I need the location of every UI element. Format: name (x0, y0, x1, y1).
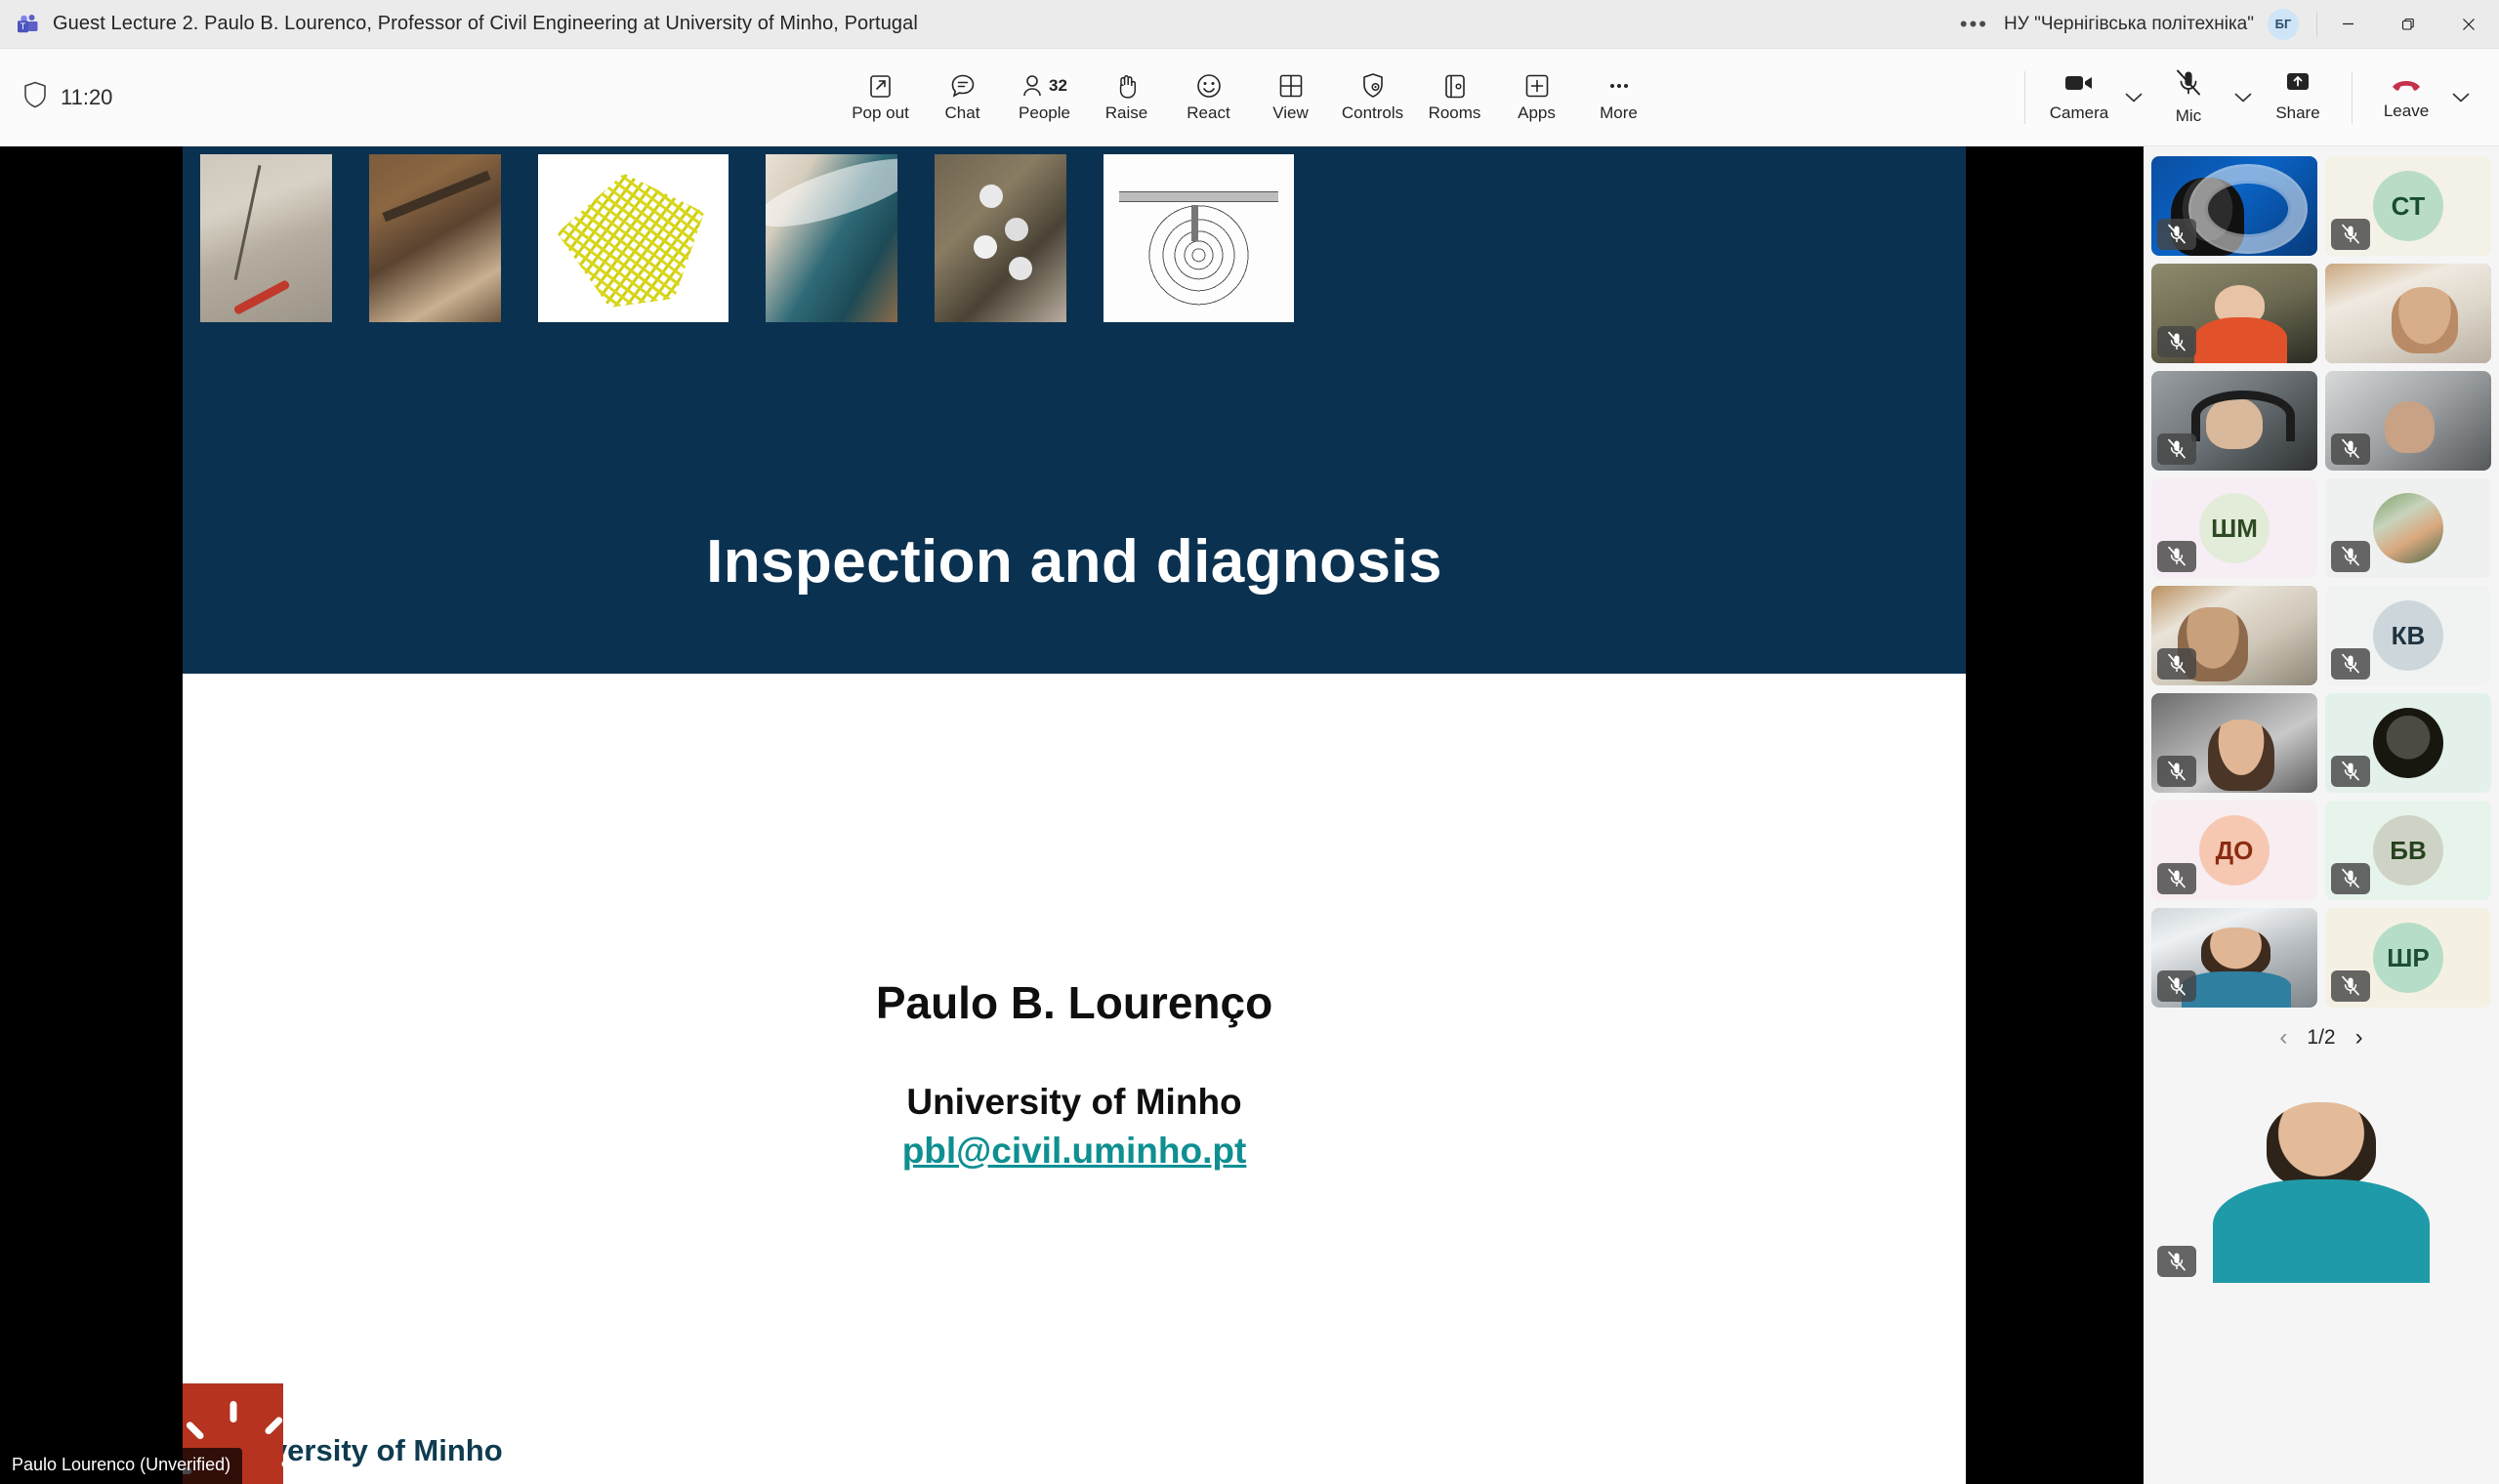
mic-muted-icon (2331, 756, 2370, 787)
slide-email-link[interactable]: pbl@civil.uminho.pt (183, 1131, 1966, 1172)
react-button[interactable]: React (1168, 60, 1250, 136)
participant-initials-avatar: ШР (2373, 923, 2443, 993)
leave-label: Leave (2384, 102, 2429, 121)
close-button[interactable] (2438, 0, 2499, 48)
mic-muted-icon (2331, 219, 2370, 250)
leave-button[interactable]: Leave (2368, 60, 2444, 136)
controls-shield-gear-icon (1360, 71, 1386, 101)
slide-presenter-name: Paulo B. Lourenço (183, 976, 1966, 1029)
mic-muted-icon (2331, 970, 2370, 1002)
toolbar-divider-left (2024, 71, 2025, 124)
people-count: 32 (1049, 76, 1067, 96)
camera-button[interactable]: Camera (2041, 60, 2117, 136)
account-avatar[interactable]: БГ (2268, 9, 2299, 40)
participant-initials-avatar: КВ (2373, 600, 2443, 671)
participant-tile[interactable] (2151, 371, 2317, 471)
toolbar-right-group: Camera Mic (2009, 49, 2499, 145)
view-label: View (1272, 103, 1309, 123)
hangup-icon (2390, 73, 2423, 98)
participant-tile[interactable]: ШМ (2151, 478, 2317, 578)
participant-tile[interactable] (2151, 156, 2317, 256)
thumbnail-anchor-bolts-photo (935, 154, 1066, 322)
participant-initials-avatar: ДО (2199, 815, 2270, 886)
people-icon: 32 (1021, 71, 1067, 101)
mic-muted-icon (2157, 863, 2196, 894)
apps-button[interactable]: Apps (1496, 60, 1578, 136)
mic-muted-icon (2331, 433, 2370, 465)
apps-plus-icon (1524, 71, 1550, 101)
rooms-label: Rooms (1429, 103, 1481, 123)
teams-icon: T (16, 13, 39, 36)
chat-button[interactable]: Chat (922, 60, 1004, 136)
svg-text:T: T (21, 21, 26, 31)
mic-muted-icon (2331, 648, 2370, 680)
title-bar-right: ••• НУ "Чернігівська політехніка" БГ (1944, 0, 2499, 48)
share-button[interactable]: Share (2260, 60, 2336, 136)
participant-tile[interactable] (2151, 264, 2317, 363)
raise-hand-label: Raise (1105, 103, 1147, 123)
thumbnail-timber-damage-photo (369, 154, 501, 322)
share-screen-icon (2283, 71, 2312, 100)
chat-label: Chat (945, 103, 980, 123)
participant-tile[interactable]: CT (2325, 156, 2491, 256)
organization-label: НУ "Чернігівська політехніка" (2004, 14, 2268, 35)
shared-content-stage[interactable]: Inspection and diagnosis Paulo B. Louren… (0, 146, 2144, 1484)
meeting-toolbar: 11:20 Pop out Chat (0, 49, 2499, 146)
mic-muted-icon (2157, 970, 2196, 1002)
camera-icon (2063, 71, 2095, 100)
slide-header-band: Inspection and diagnosis (183, 146, 1966, 674)
thumbnail-hem140-beam-drawing (1104, 154, 1294, 322)
mic-muted-icon (2157, 648, 2196, 680)
participant-video-feed (2325, 264, 2491, 363)
react-smiley-icon (1195, 71, 1223, 101)
participant-tile[interactable] (2325, 371, 2491, 471)
mic-muted-icon (2157, 541, 2196, 572)
thumbnail-crack-monitoring-photo (200, 154, 332, 322)
mic-muted-icon (2157, 1246, 2196, 1277)
react-label: React (1187, 103, 1229, 123)
pop-out-label: Pop out (852, 103, 909, 123)
presentation-slide: Inspection and diagnosis Paulo B. Louren… (183, 146, 1966, 1484)
raise-hand-button[interactable]: Raise (1086, 60, 1168, 136)
people-button[interactable]: 32 People (1004, 60, 1086, 136)
participant-tile[interactable] (2325, 478, 2491, 578)
shield-icon (23, 81, 47, 113)
participant-tile[interactable] (2151, 586, 2317, 685)
slide-affiliation: University of Minho (183, 1082, 1966, 1123)
participant-tile[interactable]: ШР (2325, 908, 2491, 1008)
roster-pager: ‹ 1/2 › (2151, 1011, 2491, 1064)
presenter-name-badge: Paulo Lourenco (Unverified) (0, 1448, 242, 1484)
mic-button[interactable]: Mic (2150, 60, 2227, 136)
share-label: Share (2275, 103, 2319, 123)
rooms-button[interactable]: Rooms (1414, 60, 1496, 136)
participant-tile[interactable] (2325, 264, 2491, 363)
camera-chevron-down-icon[interactable] (2117, 68, 2150, 127)
participant-tile[interactable] (2325, 693, 2491, 793)
roster-prev-page-button[interactable]: ‹ (2279, 1026, 2287, 1050)
title-bar-left: T Guest Lecture 2. Paulo B. Lourenco, Pr… (0, 13, 918, 36)
leave-chevron-down-icon[interactable] (2444, 68, 2478, 127)
participant-tile[interactable]: ДО (2151, 801, 2317, 900)
chat-icon (949, 71, 977, 101)
toolbar-divider-right (2352, 71, 2353, 124)
meeting-clock: 11:20 (61, 85, 112, 110)
minimize-button[interactable] (2317, 0, 2378, 48)
more-ellipsis-icon (1606, 71, 1632, 101)
mic-chevron-down-icon[interactable] (2227, 68, 2260, 127)
raise-hand-icon (1114, 71, 1140, 101)
participant-roster-panel: CT ШМ КВ ДО БВ ШР (2144, 146, 2499, 1484)
pop-out-icon (867, 71, 894, 101)
participant-tile[interactable]: КВ (2325, 586, 2491, 685)
participant-tile[interactable] (2151, 693, 2317, 793)
breakout-rooms-icon (1443, 71, 1467, 101)
apps-label: Apps (1518, 103, 1556, 123)
slide-title: Inspection and diagnosis (183, 527, 1966, 597)
thumbnail-arch-instrumentation-photo (766, 154, 897, 322)
restore-button[interactable] (2378, 0, 2438, 48)
roster-page-indicator: 1/2 (2307, 1026, 2335, 1050)
toolbar-left-group: 11:20 (0, 81, 410, 113)
spotlight-participant-tile[interactable] (2151, 1068, 2491, 1283)
title-bar: T Guest Lecture 2. Paulo B. Lourenco, Pr… (0, 0, 2499, 49)
mic-label: Mic (2176, 106, 2201, 126)
more-label: More (1600, 103, 1638, 123)
participant-initials-avatar: CT (2373, 171, 2443, 241)
participant-tile[interactable] (2151, 908, 2317, 1008)
camera-label: Camera (2050, 103, 2108, 123)
mic-muted-icon (2157, 219, 2196, 250)
mic-muted-icon (2157, 326, 2196, 357)
participant-grid: CT ШМ КВ ДО БВ ШР (2151, 156, 2491, 1008)
mic-muted-icon (2331, 541, 2370, 572)
mic-muted-icon (2331, 863, 2370, 894)
slide-thumbnail-strip (183, 154, 1966, 325)
view-grid-icon (1278, 71, 1304, 101)
mic-muted-icon (2157, 756, 2196, 787)
toolbar-center-group: Pop out Chat 32 People (840, 49, 1660, 145)
participant-initials-avatar: ШМ (2199, 493, 2270, 563)
participant-tile[interactable]: БВ (2325, 801, 2491, 900)
view-button[interactable]: View (1250, 60, 1332, 136)
participant-initials-avatar: БВ (2373, 815, 2443, 886)
meeting-title: Guest Lecture 2. Paulo B. Lourenco, Prof… (53, 13, 918, 35)
roster-next-page-button[interactable]: › (2355, 1026, 2363, 1050)
overflow-menu-icon[interactable]: ••• (1944, 14, 2004, 35)
controls-button[interactable]: Controls (1332, 60, 1414, 136)
slide-body: Paulo B. Lourenço University of Minho pb… (183, 674, 1966, 1484)
people-label: People (1019, 103, 1070, 123)
more-button[interactable]: More (1578, 60, 1660, 136)
pop-out-button[interactable]: Pop out (840, 60, 922, 136)
thumbnail-yellow-fem-mesh-model (538, 154, 729, 322)
mic-muted-icon (2175, 68, 2202, 103)
controls-label: Controls (1342, 103, 1403, 123)
mic-muted-icon (2157, 433, 2196, 465)
